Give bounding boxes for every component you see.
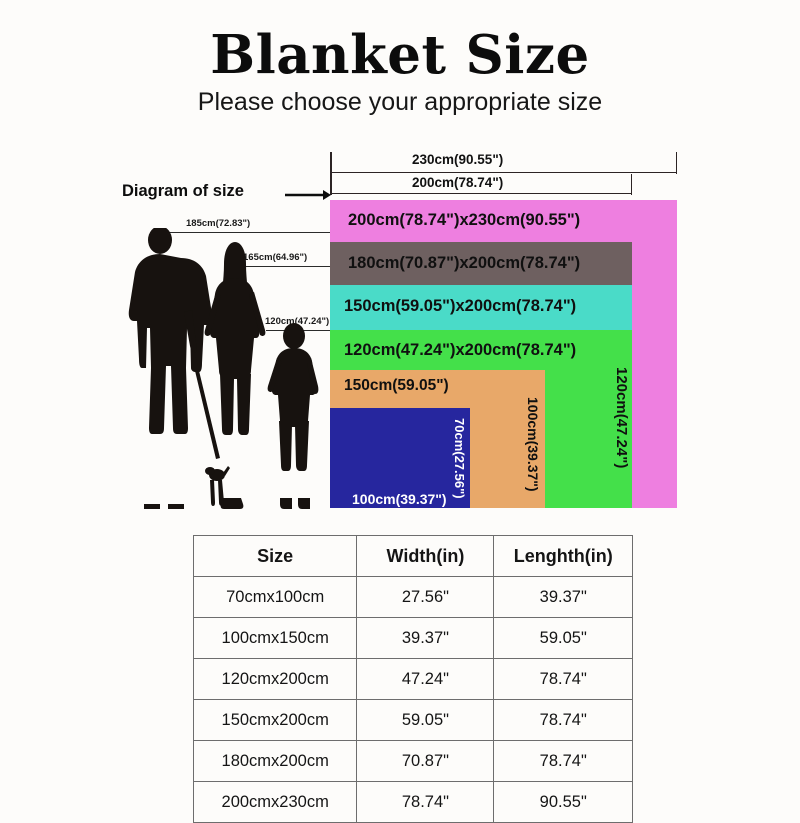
table-header-size: Size xyxy=(194,536,357,577)
size-side-label-green: 120cm(47.24") xyxy=(613,367,630,468)
cell-width: 59.05" xyxy=(357,700,494,741)
dimension-line-230 xyxy=(330,172,677,173)
dimension-line-200 xyxy=(330,193,632,194)
table-row: 70cmx100cm 27.56" 39.37" xyxy=(194,577,633,618)
cell-length: 78.74" xyxy=(494,700,633,741)
size-block-label-teal: 150cm(59.05")x200cm(78.74") xyxy=(344,297,576,316)
cell-width: 70.87" xyxy=(357,741,494,782)
size-block-label-pink: 200cm(78.74")x230cm(90.55") xyxy=(348,211,580,230)
cell-size: 150cmx200cm xyxy=(194,700,357,741)
dimension-tick-200-right xyxy=(631,174,633,195)
table-header-row: Size Width(in) Lenghth(in) xyxy=(194,536,633,577)
diagram-caption: Diagram of size xyxy=(122,182,244,201)
table-row: 120cmx200cm 47.24" 78.74" xyxy=(194,659,633,700)
cell-size: 200cmx230cm xyxy=(194,782,357,823)
size-table: Size Width(in) Lenghth(in) 70cmx100cm 27… xyxy=(193,535,633,823)
table-row: 100cmx150cm 39.37" 59.05" xyxy=(194,618,633,659)
cell-width: 27.56" xyxy=(357,577,494,618)
cell-size: 180cmx200cm xyxy=(194,741,357,782)
right-arrow-icon xyxy=(285,189,331,201)
table-row: 200cmx230cm 78.74" 90.55" xyxy=(194,782,633,823)
dimension-tick-230-right xyxy=(676,152,678,174)
cell-width: 78.74" xyxy=(357,782,494,823)
cell-size: 70cmx100cm xyxy=(194,577,357,618)
size-block-label-gray: 180cm(70.87")x200cm(78.74") xyxy=(348,254,580,273)
cell-size: 120cmx200cm xyxy=(194,659,357,700)
family-silhouette xyxy=(118,228,333,510)
cell-length: 78.74" xyxy=(494,659,633,700)
table-header-length: Lenghth(in) xyxy=(494,536,633,577)
size-block-label-green: 120cm(47.24")x200cm(78.74") xyxy=(344,341,576,360)
dimension-label-200: 200cm(78.74") xyxy=(412,175,503,190)
size-side-label-orange: 100cm(39.37") xyxy=(525,397,541,492)
size-block-label-orange: 150cm(59.05") xyxy=(344,377,449,395)
cell-width: 47.24" xyxy=(357,659,494,700)
table-header-width: Width(in) xyxy=(357,536,494,577)
cell-length: 90.55" xyxy=(494,782,633,823)
table-row: 180cmx200cm 70.87" 78.74" xyxy=(194,741,633,782)
dimension-tick-230-left xyxy=(330,152,332,174)
blanket-size-chart-page: Blanket Size Please choose your appropri… xyxy=(0,0,800,800)
cell-length: 59.05" xyxy=(494,618,633,659)
size-block-label-blue: 100cm(39.37") xyxy=(352,491,447,507)
cell-length: 39.37" xyxy=(494,577,633,618)
size-side-label-blue: 70cm(27.56") xyxy=(452,418,467,499)
cell-size: 100cmx150cm xyxy=(194,618,357,659)
dimension-label-230: 230cm(90.55") xyxy=(412,152,503,167)
cell-length: 78.74" xyxy=(494,741,633,782)
cell-width: 39.37" xyxy=(357,618,494,659)
table-row: 150cmx200cm 59.05" 78.74" xyxy=(194,700,633,741)
